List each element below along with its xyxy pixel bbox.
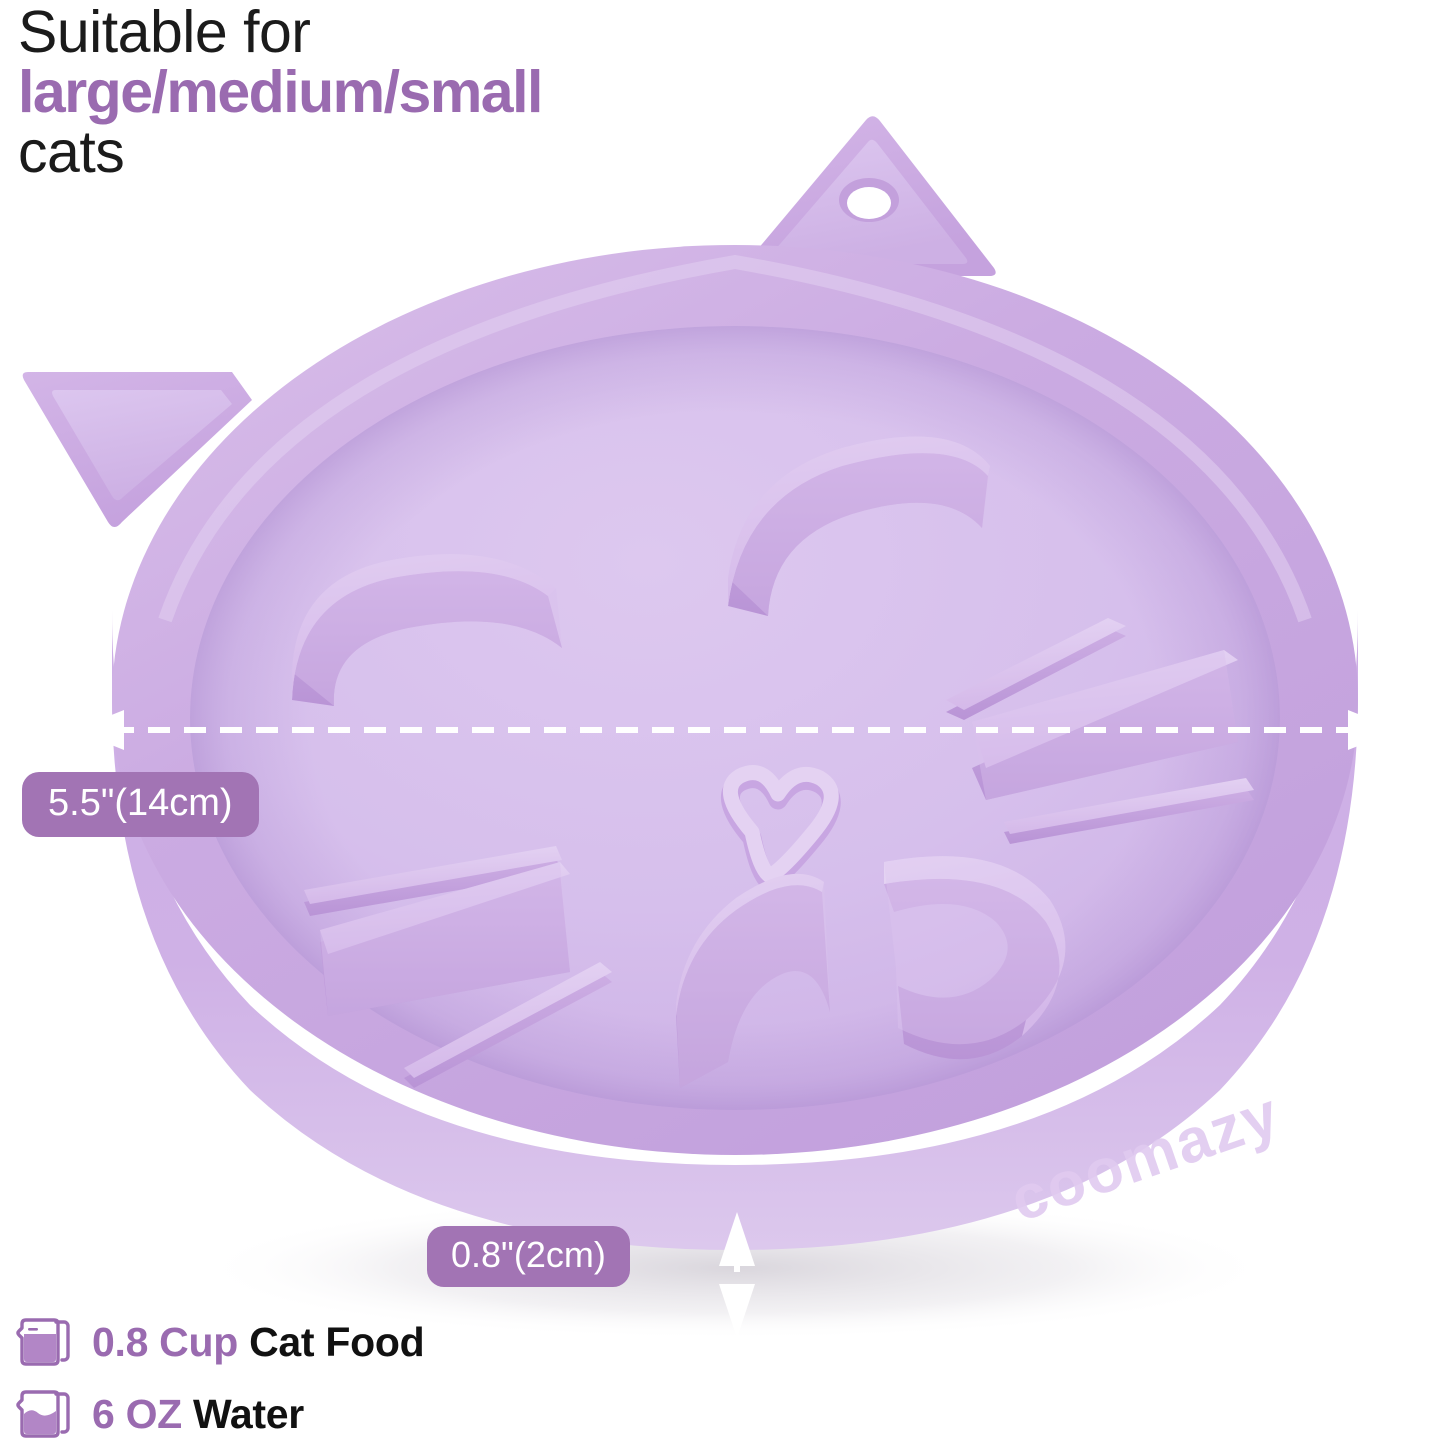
height-dimension-line (719, 1212, 755, 1338)
headline: Suitable for large/medium/small cats (18, 2, 878, 183)
height-arrow-up (719, 1212, 755, 1266)
product-image: coomazy (0, 0, 1445, 1380)
brand-embossed: coomazy (1002, 1079, 1289, 1235)
measuring-cup-icon (16, 1312, 78, 1372)
left-eye-arc (292, 554, 562, 706)
height-arrow-down (719, 1284, 755, 1338)
heart-nose (730, 773, 831, 882)
product-infographic: Suitable for large/medium/small cats (0, 0, 1445, 1456)
capacity-row-water: 6 OZ Water (16, 1378, 656, 1450)
height-dimension-badge: 0.8"(2cm) (427, 1226, 630, 1287)
measuring-pitcher-icon (16, 1384, 78, 1444)
headline-line-3: cats (18, 122, 878, 182)
capacity-text-water: 6 OZ Water (92, 1391, 304, 1438)
capacity-list: 0.8 Cup Cat Food 6 OZ Water (16, 1306, 656, 1450)
smile-curve (676, 856, 1065, 1088)
bowl-side-wall (112, 610, 1358, 1250)
capacity-label-water: Water (193, 1391, 304, 1437)
svg-text:coomazy: coomazy (1002, 1079, 1289, 1235)
capacity-amount-water: 6 OZ (92, 1391, 182, 1437)
headline-line-1: Suitable for (18, 2, 878, 62)
capacity-label-food: Cat Food (249, 1319, 424, 1365)
width-arrow-left (74, 710, 124, 750)
bowl-basin (190, 326, 1280, 1110)
right-whiskers (946, 618, 1254, 844)
hanging-hole (839, 178, 899, 222)
width-dimension-badge: 5.5"(14cm) (22, 772, 259, 837)
headline-line-2: large/medium/small (18, 62, 878, 122)
capacity-row-food: 0.8 Cup Cat Food (16, 1306, 656, 1378)
bowl-rim (112, 245, 1358, 1155)
capacity-text-food: 0.8 Cup Cat Food (92, 1319, 424, 1366)
capacity-amount-food: 0.8 Cup (92, 1319, 238, 1365)
width-arrow-right (1348, 710, 1398, 750)
left-cat-ear (23, 372, 252, 527)
left-whiskers (304, 846, 612, 1088)
width-dimension-line (74, 710, 1398, 750)
right-eye-arc (728, 436, 990, 616)
